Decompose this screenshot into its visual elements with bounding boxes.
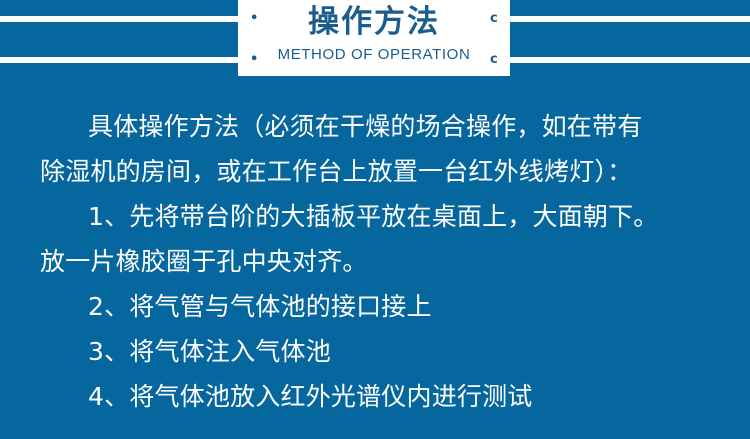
- bracket-left-top-icon: •: [250, 14, 258, 24]
- instruction-line: 放一片橡胶圈于孔中央对齐。: [0, 239, 750, 284]
- page-subtitle-en: METHOD OF OPERATION: [238, 45, 510, 65]
- page-title-cn: 操作方法: [238, 2, 510, 42]
- instruction-line: 4、将气体池放入红外光谱仪内进行测试: [0, 374, 750, 419]
- header-band: 操作方法 METHOD OF OPERATION • • c c: [0, 0, 750, 90]
- bracket-right-bottom-icon: c: [490, 55, 498, 65]
- instruction-line: 2、将气管与气体池的接口接上: [0, 284, 750, 329]
- instruction-line: 3、将气体注入气体池: [0, 329, 750, 374]
- title-card: 操作方法 METHOD OF OPERATION: [238, 0, 510, 76]
- bracket-right-top-icon: c: [490, 14, 498, 24]
- bracket-left-bottom-icon: •: [250, 55, 258, 65]
- instruction-line: 1、先将带台阶的大插板平放在桌面上，大面朝下。: [0, 194, 750, 239]
- operation-method-banner: 操作方法 METHOD OF OPERATION • • c c 具体操作方法（…: [0, 0, 750, 439]
- instruction-text-block: 具体操作方法（必须在干燥的场合操作，如在带有除湿机的房间，或在工作台上放置一台红…: [0, 104, 750, 419]
- instruction-line: 除湿机的房间，或在工作台上放置一台红外线烤灯）：: [0, 149, 750, 194]
- instruction-line: 具体操作方法（必须在干燥的场合操作，如在带有: [0, 104, 750, 149]
